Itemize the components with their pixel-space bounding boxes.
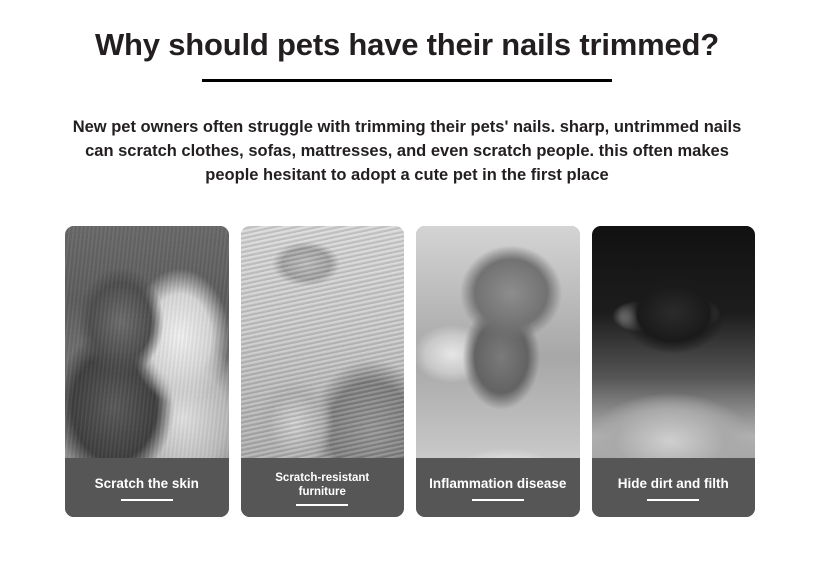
card-scratch-resistant-furniture[interactable]: Scratch-resistant furniture: [241, 226, 405, 517]
caption-underline: [296, 504, 348, 506]
infographic-page: Why should pets have their nails trimmed…: [0, 0, 814, 564]
card-caption-label: Inflammation disease: [423, 476, 572, 493]
caption-underline: [121, 499, 173, 501]
card-caption-label: Hide dirt and filth: [612, 476, 735, 493]
card-caption-bar: Scratch-resistant furniture: [241, 458, 405, 517]
card-inflammation-disease[interactable]: Inflammation disease: [416, 226, 580, 517]
page-title: Why should pets have their nails trimmed…: [0, 26, 814, 63]
card-caption-label: Scratch the skin: [89, 476, 205, 493]
card-caption-bar: Scratch the skin: [65, 458, 229, 517]
caption-underline: [647, 499, 699, 501]
header: Why should pets have their nails trimmed…: [0, 26, 814, 82]
title-divider: [202, 79, 612, 82]
card-scratch-the-skin[interactable]: Scratch the skin: [65, 226, 229, 517]
card-caption-bar: Inflammation disease: [416, 458, 580, 517]
card-hide-dirt-and-filth[interactable]: Hide dirt and filth: [592, 226, 756, 517]
card-row: Scratch the skin Scratch-resistant furni…: [65, 226, 755, 517]
card-caption-bar: Hide dirt and filth: [592, 458, 756, 517]
caption-underline: [472, 499, 524, 501]
subtitle-paragraph: New pet owners often struggle with trimm…: [57, 116, 757, 188]
card-caption-label: Scratch-resistant furniture: [269, 471, 375, 500]
